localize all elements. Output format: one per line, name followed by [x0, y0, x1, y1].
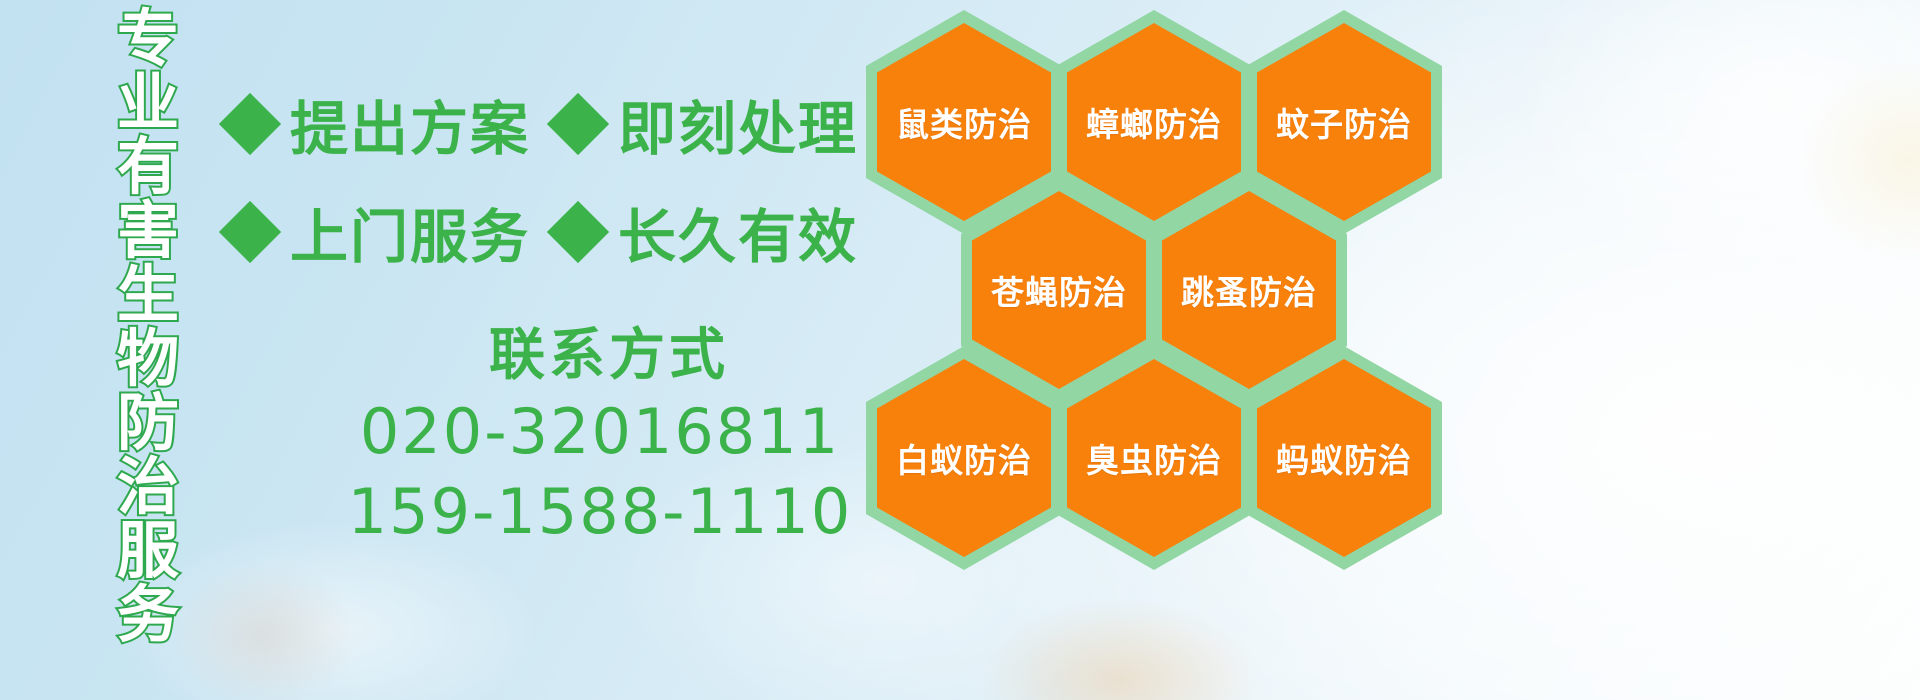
vertical-slogan-char: 生 — [117, 264, 179, 326]
vertical-slogan-char: 有 — [117, 136, 179, 198]
hex-label: 蚊子防治 — [1276, 98, 1412, 146]
hex-label: 蚂蚁防治 — [1276, 434, 1412, 482]
pest-control-banner: 专 业 有 害 生 物 防 治 服 务 提出方案 即刻处理 上门服务 — [0, 0, 1920, 700]
feature-item-onsite-service: 上门服务 — [228, 190, 530, 274]
vertical-slogan-char: 专 — [117, 8, 179, 70]
vertical-slogan-char: 害 — [117, 200, 179, 262]
diamond-bullet-icon — [219, 93, 281, 155]
feature-label: 即刻处理 — [618, 82, 858, 166]
hex-label: 鼠类防治 — [896, 98, 1032, 146]
hex-label: 臭虫防治 — [1086, 434, 1222, 482]
background-highlight-2 — [1520, 0, 1920, 280]
diamond-bullet-icon — [219, 201, 281, 263]
hex-label: 蟑螂防治 — [1086, 98, 1222, 146]
feature-list: 提出方案 即刻处理 上门服务 长久有效 — [228, 70, 878, 286]
feature-item-propose-plan: 提出方案 — [228, 82, 530, 166]
hex-label: 跳蚤防治 — [1181, 266, 1317, 314]
contact-phone-mobile[interactable]: 159-1588-1110 — [300, 472, 900, 552]
background-highlight-6 — [1800, 60, 1920, 260]
diamond-bullet-icon — [547, 201, 609, 263]
contact-phone-landline[interactable]: 020-32016811 — [300, 392, 900, 472]
feature-row-1: 提出方案 即刻处理 — [228, 70, 878, 178]
feature-item-immediate-handling: 即刻处理 — [556, 82, 858, 166]
hex-cell-termite-control[interactable]: 白蚁防治 — [866, 346, 1062, 570]
vertical-slogan-char: 防 — [117, 392, 179, 454]
feature-item-long-lasting: 长久有效 — [556, 190, 858, 274]
vertical-slogan: 专 业 有 害 生 物 防 治 服 务 — [98, 8, 198, 568]
diamond-bullet-icon — [547, 93, 609, 155]
vertical-slogan-char: 务 — [117, 584, 179, 646]
feature-label: 提出方案 — [290, 82, 530, 166]
feature-label: 长久有效 — [618, 190, 858, 274]
hex-cell-bedbug-control[interactable]: 臭虫防治 — [1056, 346, 1252, 570]
background-highlight-4 — [170, 560, 360, 700]
service-honeycomb-grid: 鼠类防治 蟑螂防治 蚊子防治 苍蝇防治 跳蚤防治 白蚁防治 — [860, 0, 1480, 576]
background-highlight-5 — [980, 600, 1260, 700]
vertical-slogan-char: 物 — [117, 328, 179, 390]
vertical-slogan-char: 业 — [117, 72, 179, 134]
contact-title: 联系方式 — [318, 320, 900, 392]
vertical-slogan-char: 治 — [117, 456, 179, 518]
hex-label: 苍蝇防治 — [991, 266, 1127, 314]
feature-label: 上门服务 — [290, 190, 530, 274]
feature-row-2: 上门服务 长久有效 — [228, 178, 878, 286]
vertical-slogan-char: 服 — [117, 520, 179, 582]
hex-label: 白蚁防治 — [896, 434, 1032, 482]
hex-cell-ant-control[interactable]: 蚂蚁防治 — [1246, 346, 1442, 570]
contact-block: 联系方式 020-32016811 159-1588-1110 — [300, 320, 900, 552]
